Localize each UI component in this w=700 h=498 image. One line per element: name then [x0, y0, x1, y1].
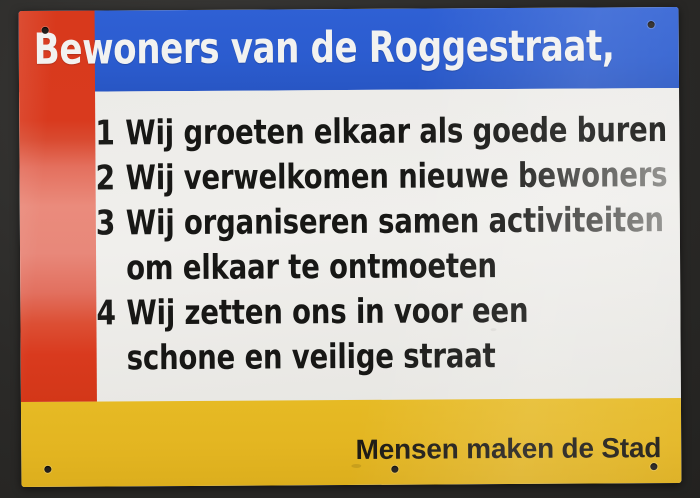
rules-list: 1 Wij groeten elkaar als goede buren 2 W…: [95, 88, 681, 402]
rule-text: Wij zetten ons in voor een: [126, 290, 625, 333]
rule-number: 2: [95, 158, 123, 198]
screenshot-stage: Bewoners van de Roggestraat, 1 Wij groet…: [0, 0, 700, 498]
rule-text: om elkaar te ontmoeten: [126, 245, 625, 288]
surface-blemish: [490, 328, 496, 331]
rule-text: Wij groeten elkaar als goede buren: [125, 110, 667, 153]
screw-hole-top-right-icon: [648, 21, 655, 28]
rule-number: 1: [95, 113, 123, 153]
screw-hole-bottom-center-icon: [391, 466, 398, 473]
footer-slogan: Mensen maken de Stad: [355, 431, 661, 467]
rule-continuation-row: schone en veilige straat: [97, 335, 681, 384]
surface-blemish: [351, 464, 361, 468]
rule-number: 3: [96, 203, 124, 243]
enamel-street-sign: Bewoners van de Roggestraat, 1 Wij groet…: [19, 7, 682, 487]
rule-text: Wij organiseren samen activiteiten: [126, 200, 664, 243]
rule-row: 1 Wij groeten elkaar als goede buren: [95, 110, 679, 159]
screw-hole-bottom-right-icon: [650, 463, 657, 470]
rule-row: 4 Wij zetten ons in voor een: [96, 290, 680, 339]
rule-row: 3 Wij organiseren samen activiteiten: [96, 200, 680, 249]
screw-hole-bottom-left-icon: [44, 466, 51, 473]
rule-continuation-row: om elkaar te ontmoeten: [96, 245, 680, 294]
screw-hole-top-left-icon: [42, 27, 49, 34]
rule-row: 2 Wij verwelkomen nieuwe bewoners: [95, 155, 679, 204]
rule-text: Wij verwelkomen nieuwe bewoners: [125, 155, 667, 198]
sign-header-title: Bewoners van de Roggestraat,: [34, 21, 597, 74]
rule-text: schone en veilige straat: [127, 335, 626, 378]
rule-number: 4: [96, 293, 124, 333]
